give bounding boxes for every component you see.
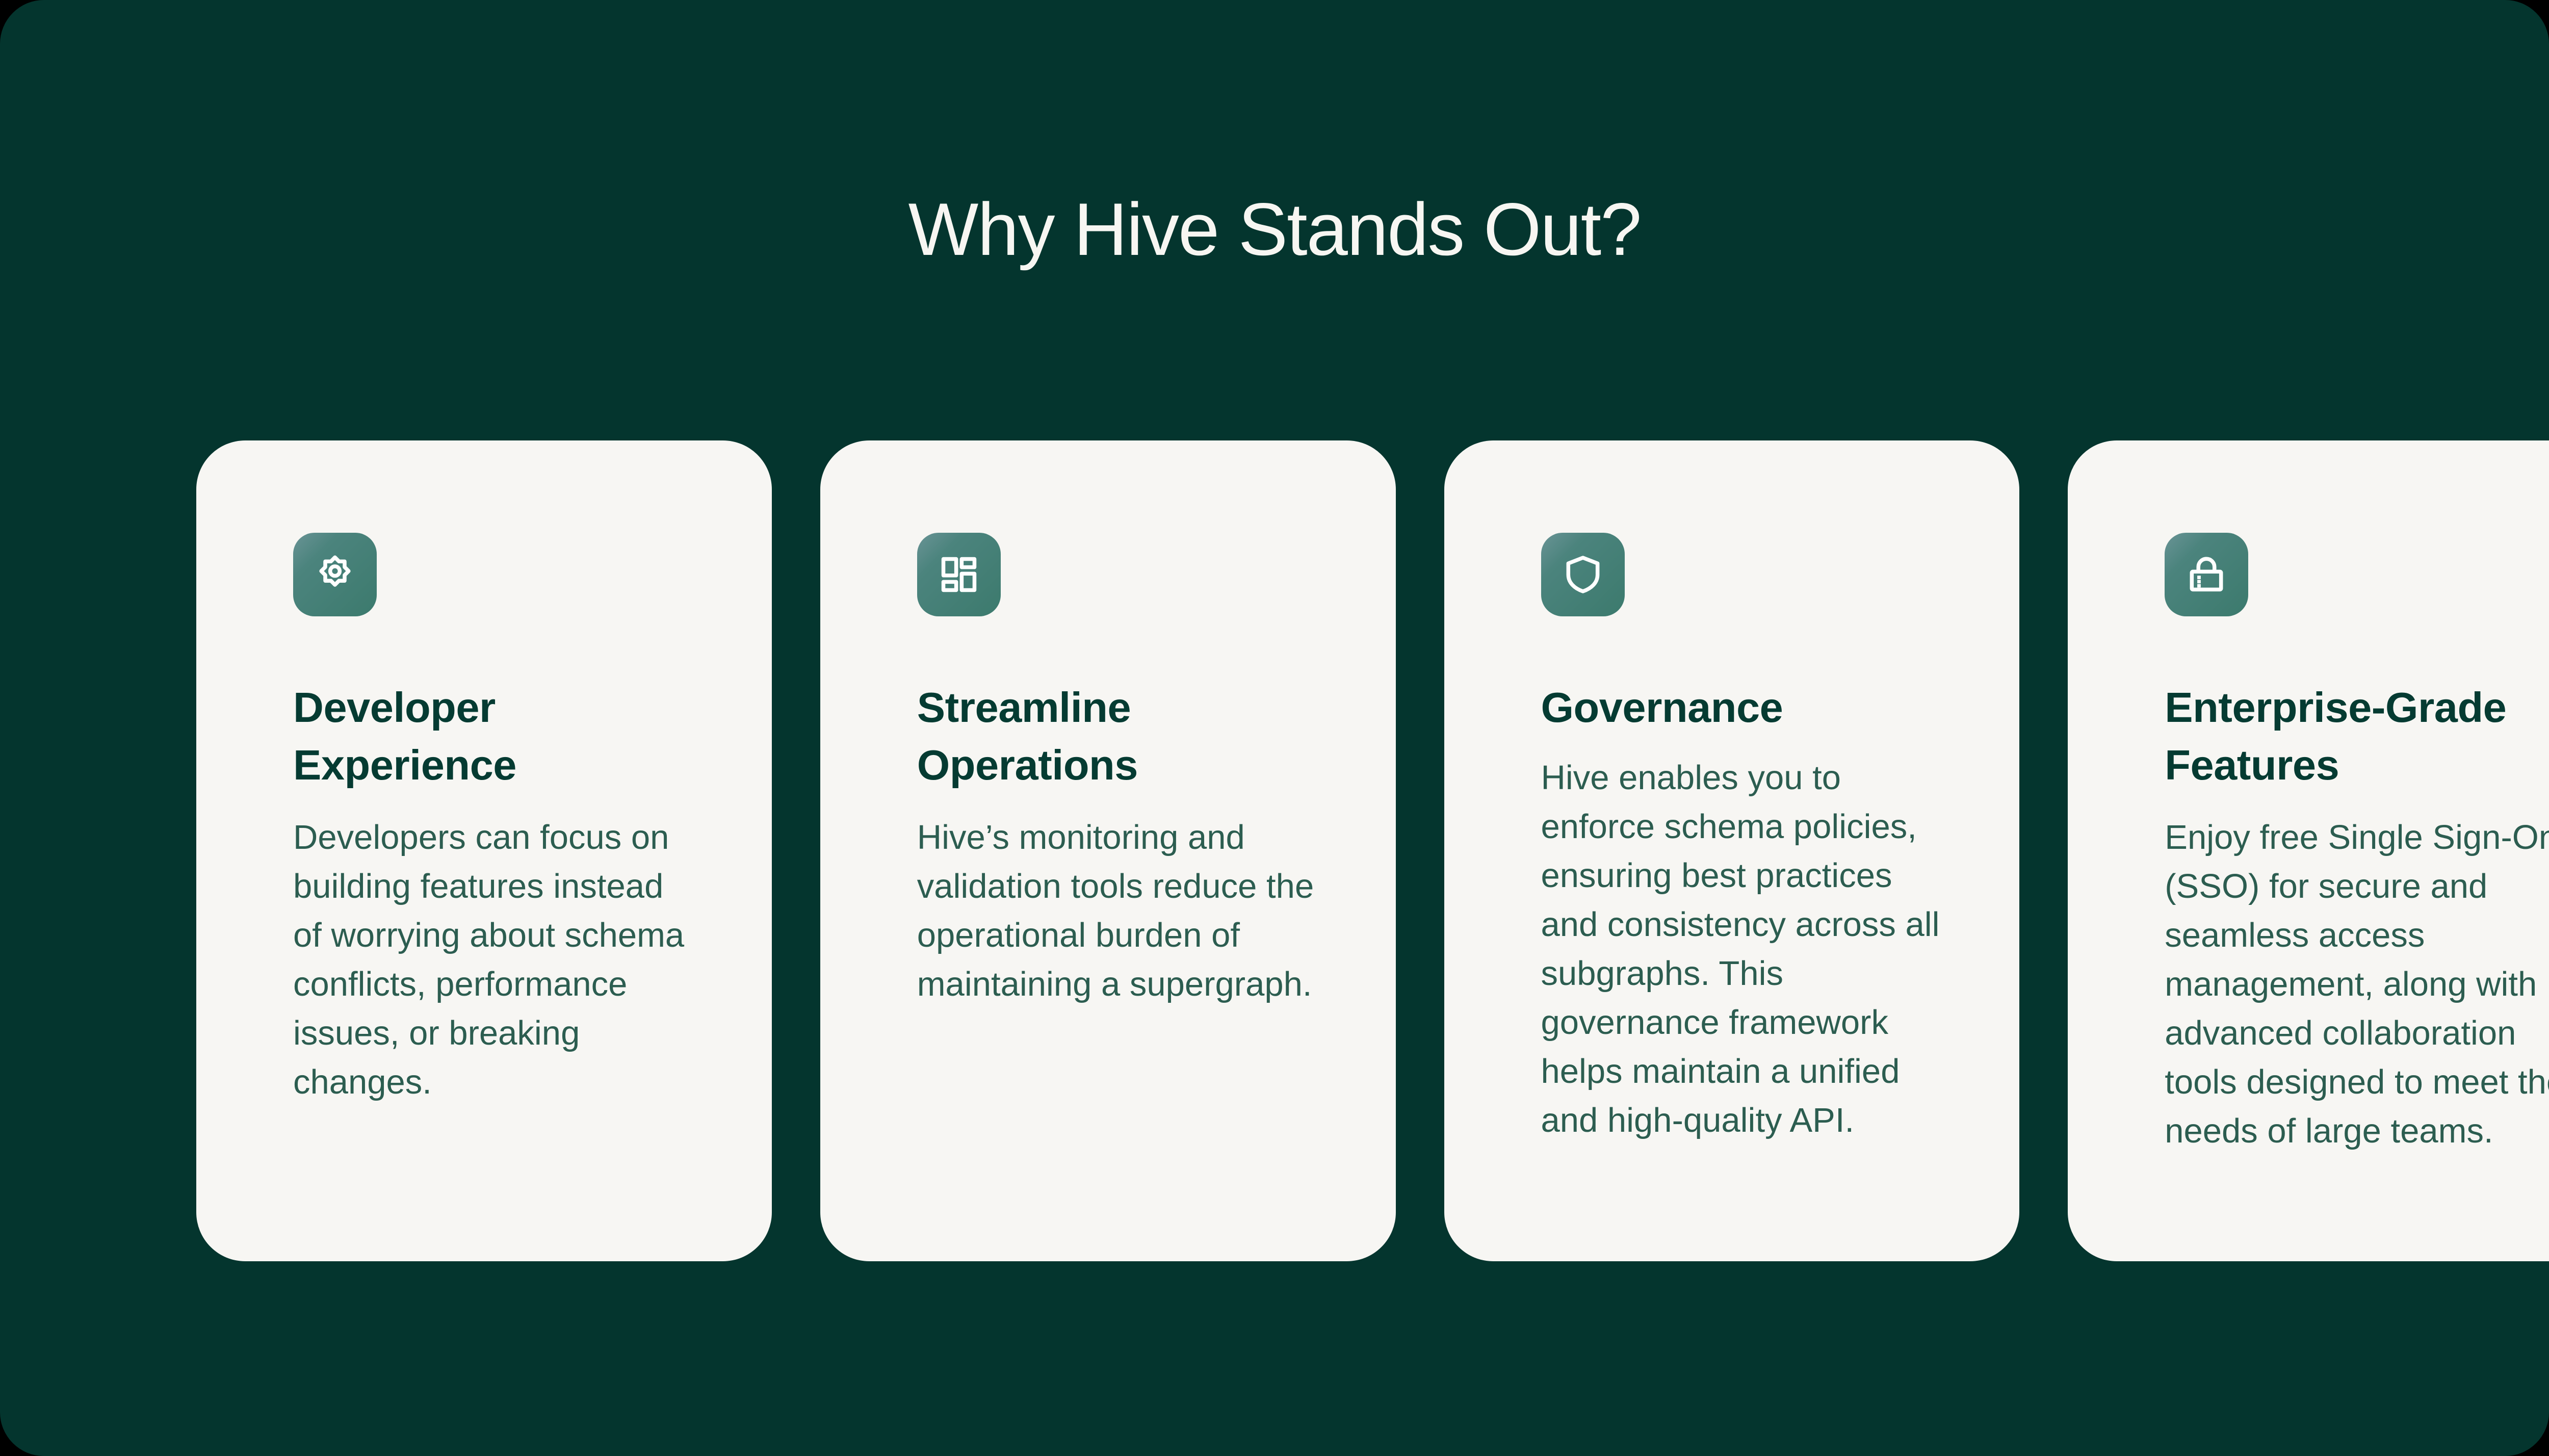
feature-card-developer-experience[interactable]: Developer Experience Developers can focu… (196, 440, 772, 1261)
icon-tile (293, 533, 377, 616)
card-title: Enterprise-Grade Features (2165, 679, 2549, 794)
card-body: Hive’s monitoring and validation tools r… (917, 813, 1320, 1009)
page-title: Why Hive Stands Out? (0, 184, 2549, 275)
card-body: Developers can focus on building feature… (293, 813, 696, 1107)
dashboard-grid-icon (937, 553, 981, 596)
icon-tile (917, 533, 1001, 616)
feature-card-enterprise-grade-features[interactable]: Enterprise-Grade Features Enjoy free Sin… (2068, 440, 2549, 1261)
card-title: Developer Experience (293, 679, 691, 794)
gear-icon (313, 553, 357, 596)
icon-tile (2165, 533, 2248, 616)
feature-card-governance[interactable]: Governance Hive enables you to enforce s… (1444, 440, 2020, 1261)
feature-card-streamline-operations[interactable]: Streamline Operations Hive’s monitoring … (820, 440, 1396, 1261)
card-body: Hive enables you to enforce schema polic… (1541, 753, 1944, 1145)
shield-icon (1561, 553, 1605, 596)
icon-tile (1541, 533, 1625, 616)
card-body: Enjoy free Single Sign-On (SSO) for secu… (2165, 813, 2549, 1156)
card-title: Streamline Operations (917, 679, 1315, 794)
page-root: Why Hive Stands Out? Developer Experienc… (0, 0, 2549, 1456)
lock-icon (2184, 553, 2228, 596)
card-title: Governance (1541, 679, 1783, 736)
feature-card-grid: Developer Experience Developers can focu… (196, 440, 2549, 1261)
